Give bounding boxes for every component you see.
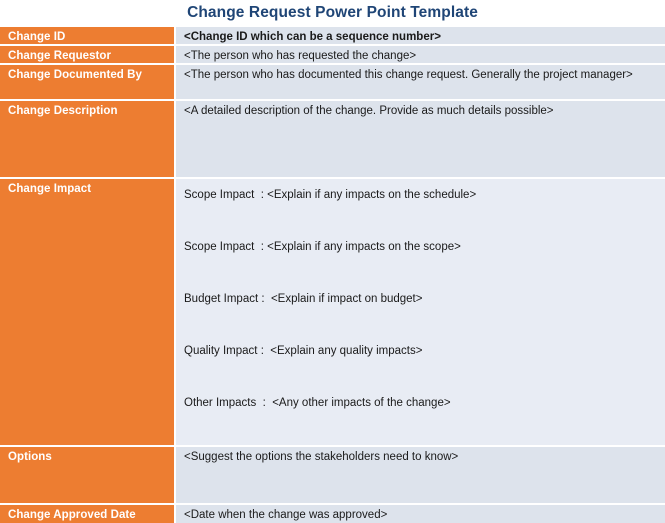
impact-separator: : [261,189,264,201]
impact-item-scope: Scope Impact : <Explain if any impacts o… [184,240,665,292]
row-value-change-impact[interactable]: Scope Impact : <Explain if any impacts o… [176,179,665,447]
impact-separator: : [263,397,266,409]
impact-item-budget: Budget Impact : <Explain if impact on bu… [184,292,665,344]
row-value-change-approved-date[interactable]: <Date when the change was approved> [176,505,665,523]
row-value-text: <The person who has requested the change… [184,49,665,63]
impact-value: <Explain if any impacts on the scope> [267,241,461,253]
impact-separator: : [261,241,264,253]
page-title: Change Request Power Point Template [0,3,665,23]
row-value-change-id[interactable]: <Change ID which can be a sequence numbe… [176,27,665,46]
row-value-change-documented-by[interactable]: <The person who has documented this chan… [176,65,665,101]
row-label-text: Change Description [8,104,170,118]
row-value-text: <Date when the change was approved> [184,508,665,522]
impact-key: Scope Impact [184,189,254,201]
impact-value: <Explain any quality impacts> [270,345,422,357]
row-label-options: Options [0,447,176,505]
row-value-text: <Change ID which can be a sequence numbe… [184,30,665,44]
row-label-text: Change Impact [8,182,170,196]
row-label-text: Options [8,450,170,464]
impact-item-scope-schedule: Scope Impact : <Explain if any impacts o… [184,188,665,240]
impact-value: <Explain if any impacts on the schedule> [267,189,476,201]
row-label-change-requestor: Change Requestor [0,46,176,65]
row-label-change-id: Change ID [0,27,176,46]
impact-item-quality: Quality Impact : <Explain any quality im… [184,344,665,396]
row-value-text: <A detailed description of the change. P… [184,104,665,118]
row-value-change-requestor[interactable]: <The person who has requested the change… [176,46,665,65]
table-row-change-requestor: Change Requestor <The person who has req… [0,46,665,65]
impact-value: <Any other impacts of the change> [272,397,450,409]
row-value-options[interactable]: <Suggest the options the stakeholders ne… [176,447,665,505]
row-label-text: Change Documented By [8,68,170,82]
impact-key: Other Impacts [184,397,256,409]
table-row-change-documented-by: Change Documented By <The person who has… [0,65,665,101]
change-request-table: Change ID <Change ID which can be a sequ… [0,27,665,523]
table-row-change-description: Change Description <A detailed descripti… [0,101,665,179]
table-row-change-impact: Change Impact Scope Impact : <Explain if… [0,179,665,447]
impact-key: Budget Impact [184,293,258,305]
impact-separator: : [261,293,264,305]
row-value-text: <Suggest the options the stakeholders ne… [184,450,665,464]
table-row-change-id: Change ID <Change ID which can be a sequ… [0,27,665,46]
impact-item-other: Other Impacts : <Any other impacts of th… [184,396,665,448]
row-label-text: Change Requestor [8,49,170,63]
row-label-change-impact: Change Impact [0,179,176,447]
slide-canvas: Change Request Power Point Template Chan… [0,0,665,523]
impact-value: <Explain if impact on budget> [271,293,423,305]
row-label-change-description: Change Description [0,101,176,179]
row-value-change-description[interactable]: <A detailed description of the change. P… [176,101,665,179]
impact-key: Quality Impact [184,345,258,357]
row-label-change-approved-date: Change Approved Date [0,505,176,523]
table-row-options: Options <Suggest the options the stakeho… [0,447,665,505]
impact-separator: : [261,345,264,357]
row-label-text: Change ID [8,30,170,44]
row-value-text: <The person who has documented this chan… [184,68,665,82]
row-label-text: Change Approved Date [8,508,170,522]
row-label-change-documented-by: Change Documented By [0,65,176,101]
table-row-change-approved-date: Change Approved Date <Date when the chan… [0,505,665,523]
impact-key: Scope Impact [184,241,254,253]
impact-list: Scope Impact : <Explain if any impacts o… [184,188,665,448]
